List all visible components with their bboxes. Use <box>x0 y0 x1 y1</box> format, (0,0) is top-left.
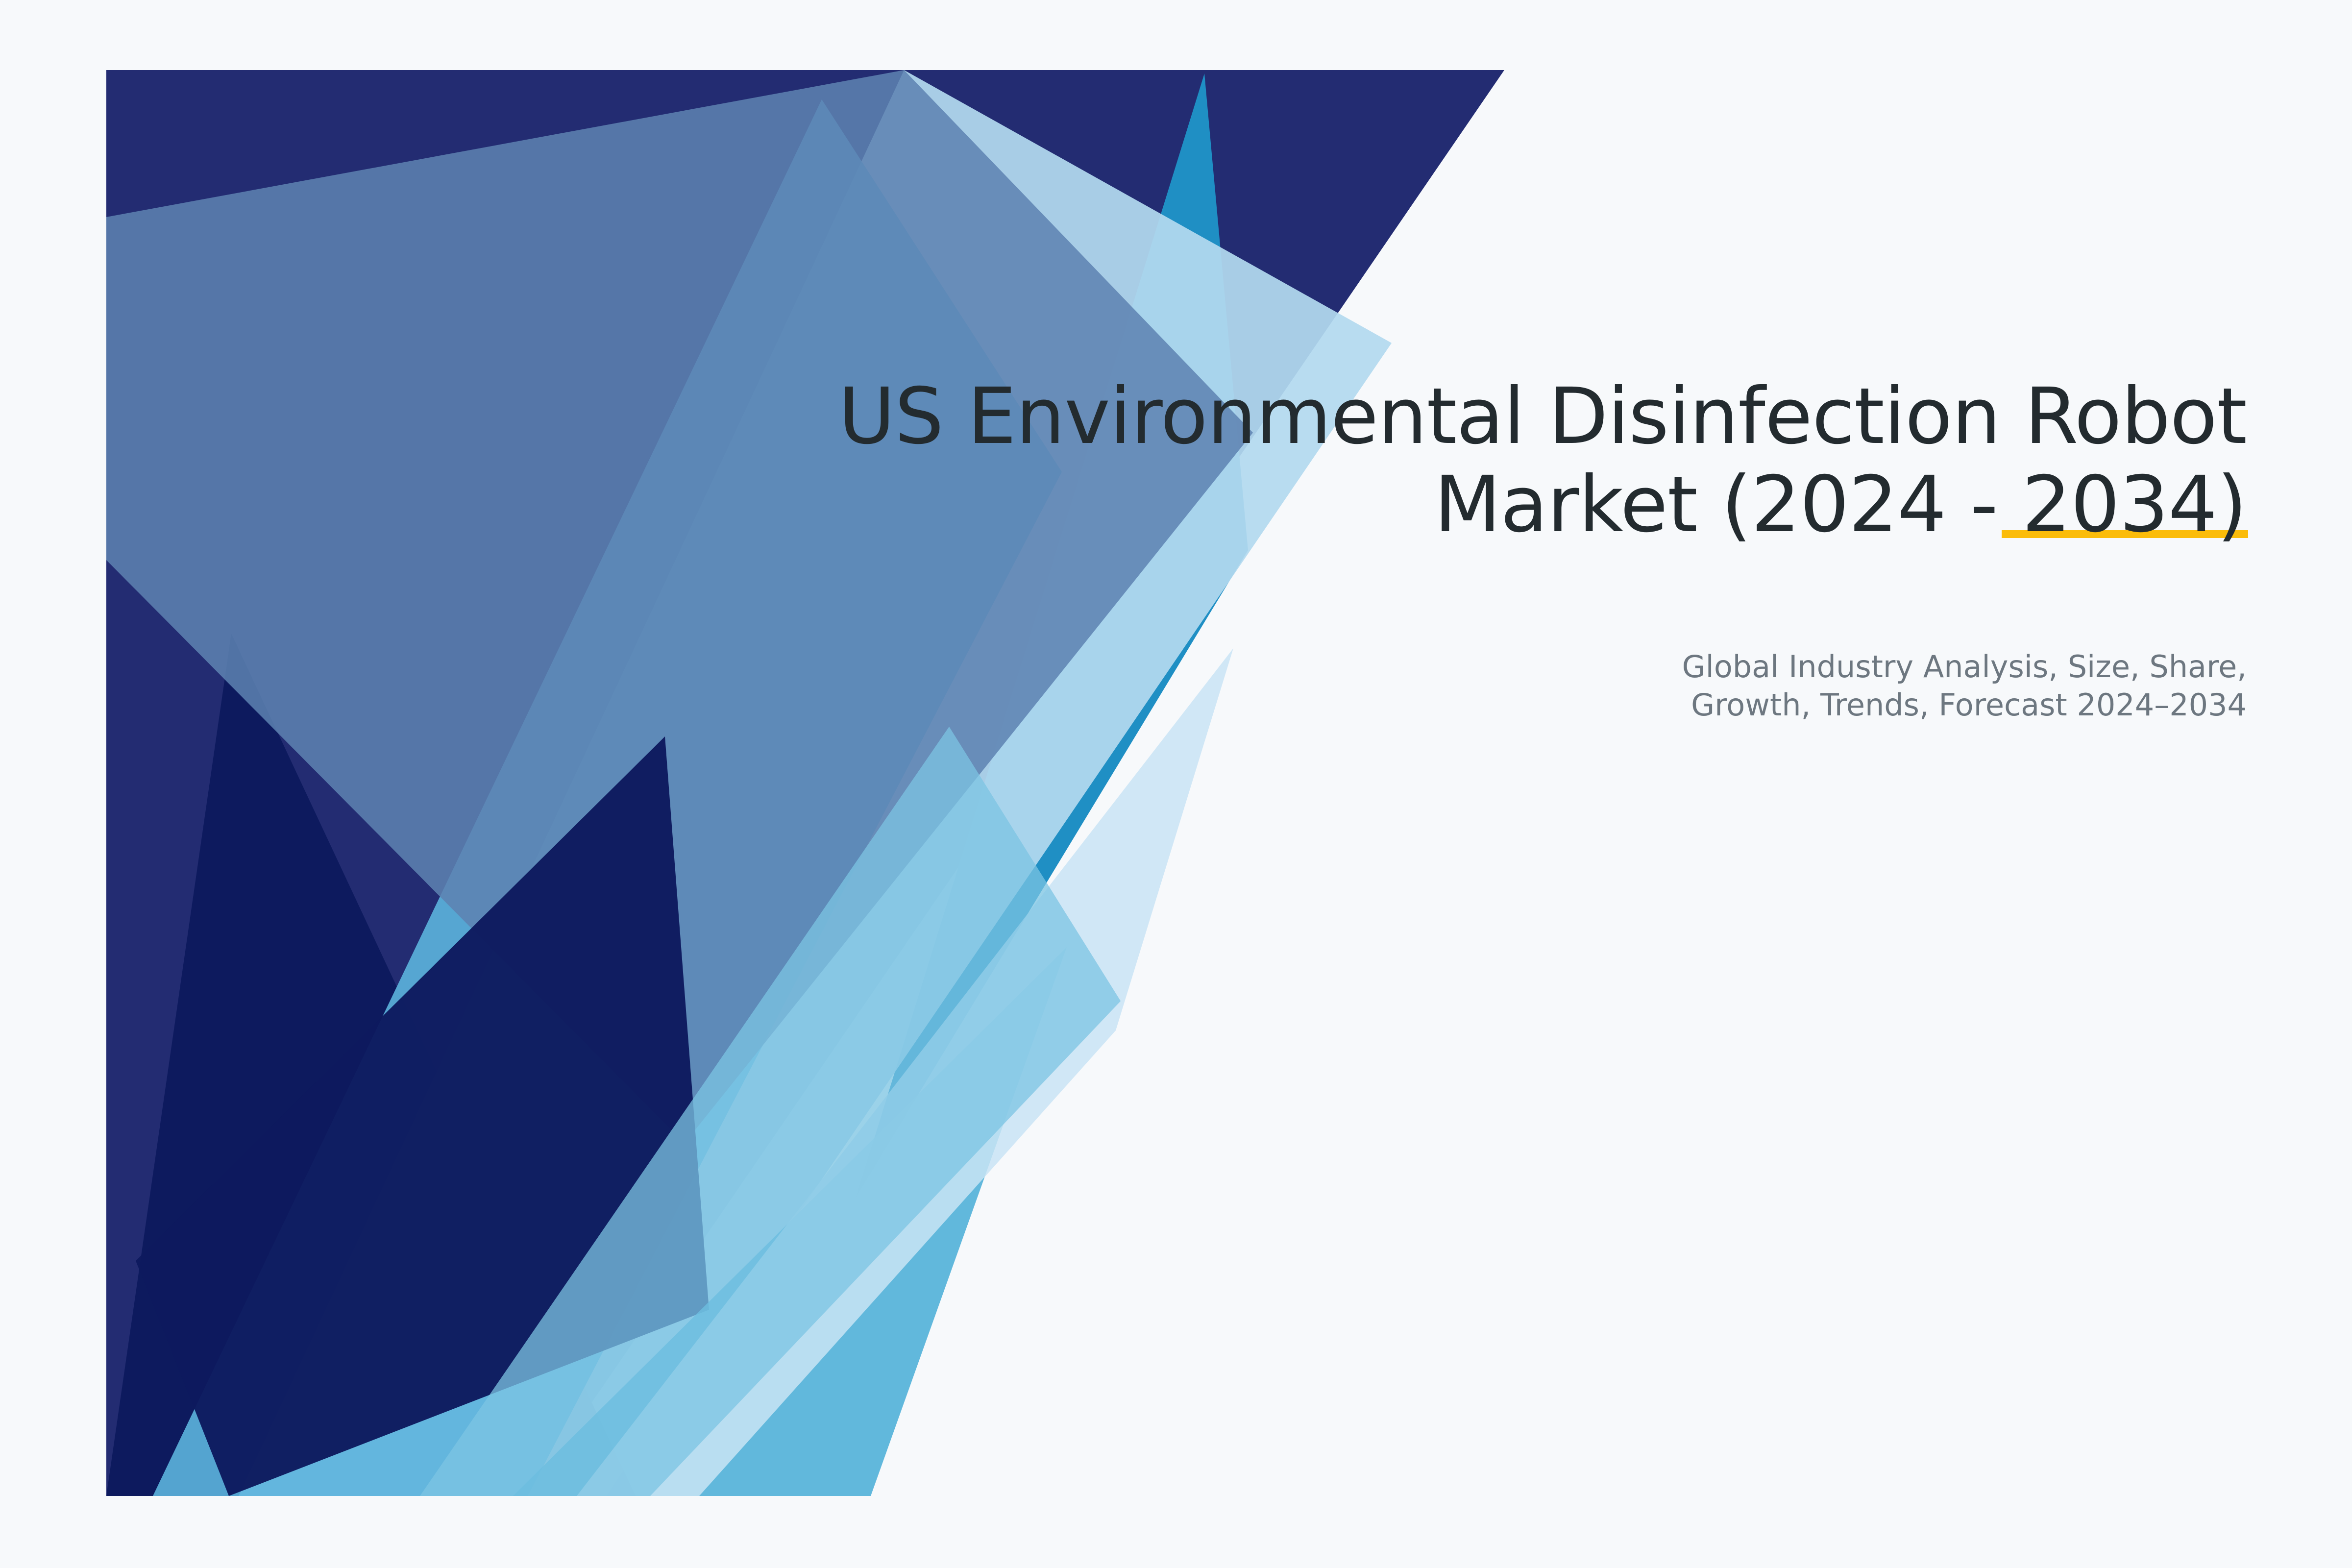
page-subtitle: Global Industry Analysis, Size, Share, G… <box>1323 648 2247 724</box>
abstract-geometric-artwork <box>106 70 1508 1496</box>
artwork-svg <box>106 70 1508 1496</box>
cover-text-block: US Environmental Disinfection Robot Mark… <box>735 372 2247 549</box>
page-title: US Environmental Disinfection Robot Mark… <box>735 372 2247 549</box>
report-cover: US Environmental Disinfection Robot Mark… <box>0 0 2352 1568</box>
